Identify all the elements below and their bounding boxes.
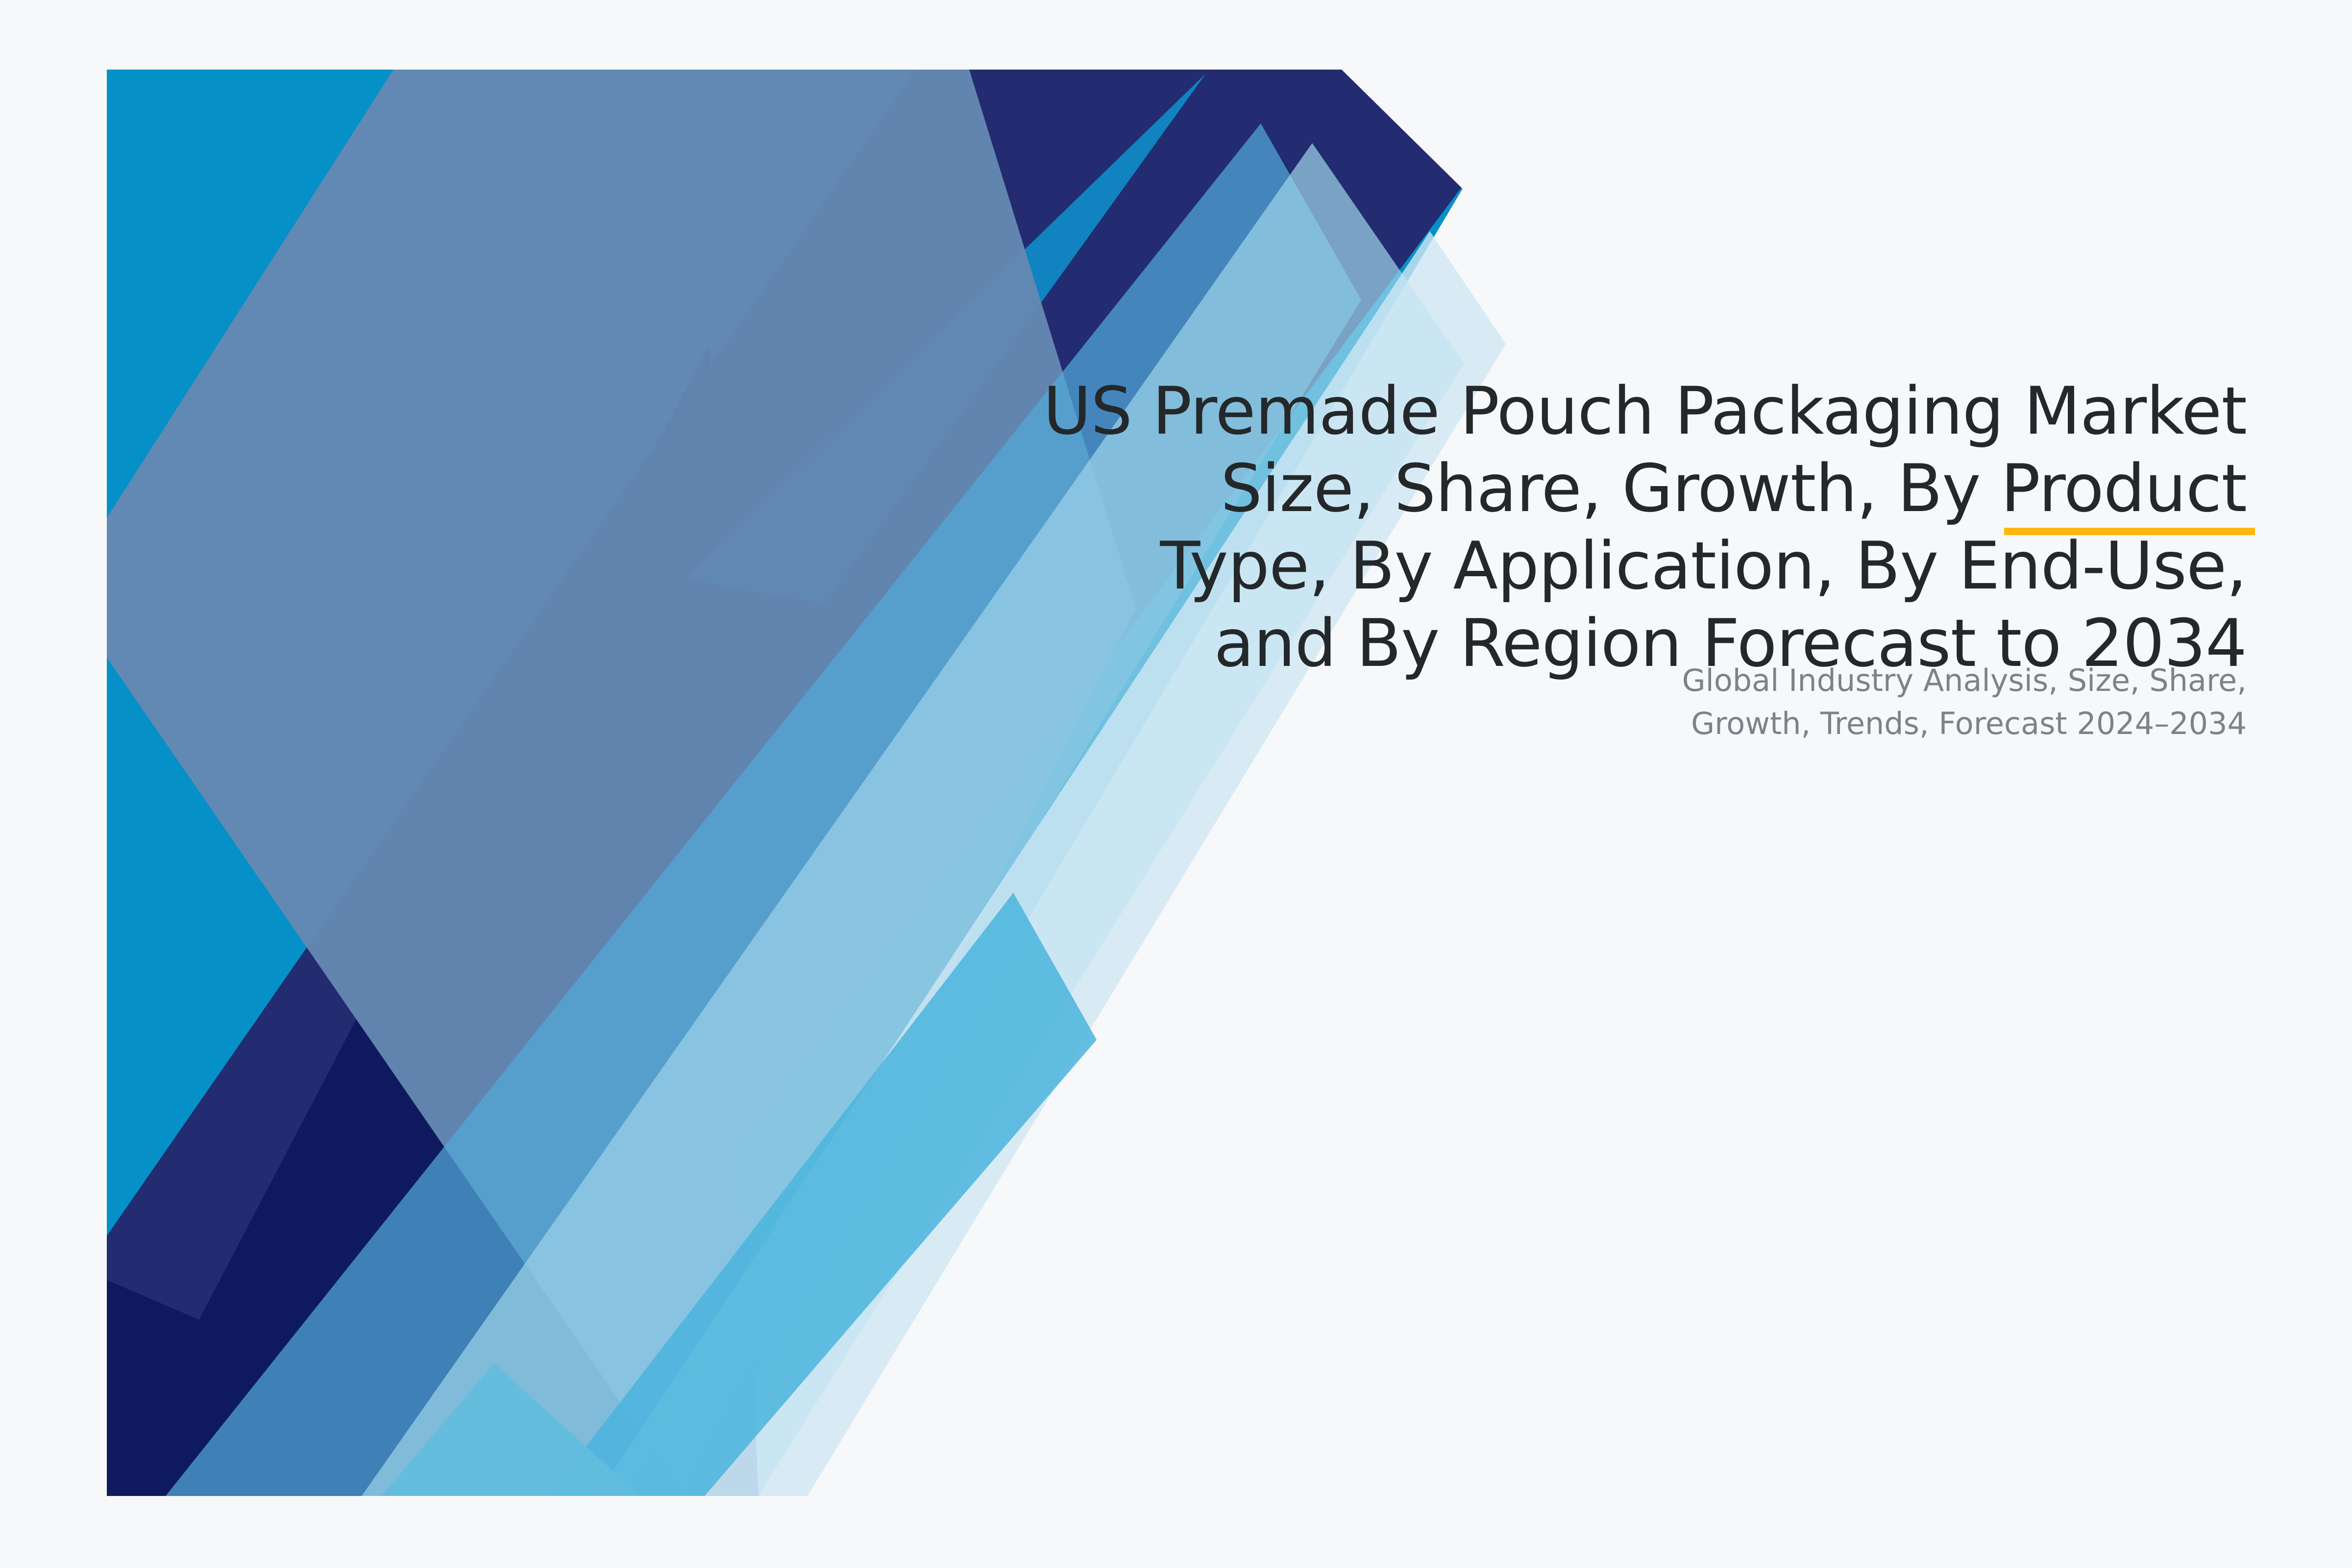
report-cover-canvas: US Premade Pouch Packaging Market Size, …	[0, 0, 2352, 1568]
subtitle-block: Global Industry Analysis, Size, Share, G…	[735, 659, 2247, 745]
cover-graphic-svg	[107, 70, 1506, 1496]
page-subtitle: Global Industry Analysis, Size, Share, G…	[735, 659, 2247, 745]
abstract-geometric-cover-graphic	[107, 70, 1506, 1496]
title-accent-underline	[2004, 528, 2255, 535]
